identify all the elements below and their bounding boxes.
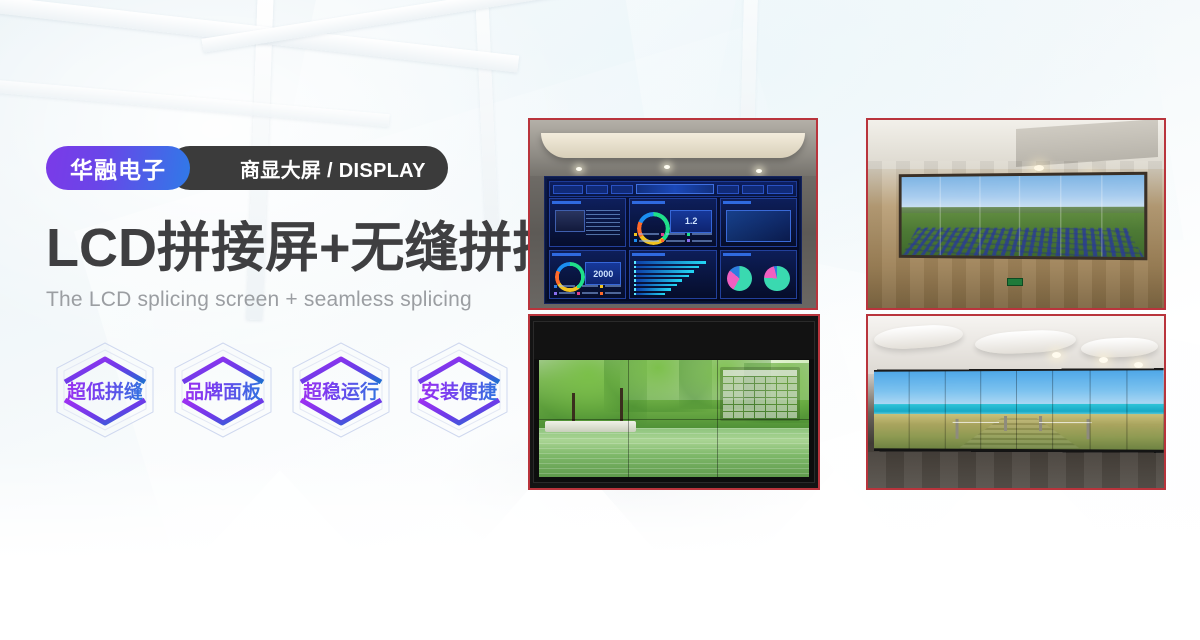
page-subtitle: The LCD splicing screen + seamless splic…	[46, 288, 546, 312]
video-wall-screen	[898, 171, 1146, 260]
feature-badge-label: 超稳运行	[303, 377, 379, 404]
dashboard-kpi-primary: 1.2	[670, 210, 711, 233]
video-wall-screen: 1.2	[544, 176, 801, 304]
product-banner: 商显大屏 / DISPLAY 华融电子 LCD拼接屏+无缝拼接 The LCD …	[0, 0, 1200, 640]
page-title: LCD拼接屏+无缝拼接	[46, 220, 546, 276]
dashboard-kpi-secondary: 2000	[585, 262, 621, 285]
product-photo-beach-boardwalk-video-wall[interactable]	[866, 314, 1166, 490]
product-photo-solar-farm-video-wall[interactable]	[866, 118, 1166, 310]
brand-pill-label: 华融电子	[70, 151, 166, 185]
video-wall-screen	[874, 369, 1164, 453]
category-pill: 商显大屏 / DISPLAY	[168, 146, 448, 190]
feature-badge: 超稳运行	[282, 338, 400, 442]
calendar-overlay	[720, 367, 801, 421]
feature-badge: 安装便捷	[400, 338, 518, 442]
feature-badge-list: 超低拼缝 品牌面板	[46, 338, 546, 442]
feature-badge: 超低拼缝	[46, 338, 164, 442]
feature-badge: 品牌面板	[164, 338, 282, 442]
banner-copy-column: 商显大屏 / DISPLAY 华融电子 LCD拼接屏+无缝拼接 The LCD …	[46, 146, 546, 442]
product-photo-grid: 1.2	[528, 118, 1168, 490]
product-photo-dashboard-video-wall[interactable]: 1.2	[528, 118, 818, 310]
category-pill-label: 商显大屏 / DISPLAY	[240, 154, 426, 183]
feature-badge-label: 安装便捷	[421, 377, 497, 404]
feature-badge-label: 超低拼缝	[67, 377, 143, 404]
brand-pill-row: 商显大屏 / DISPLAY 华融电子	[46, 146, 190, 190]
product-photo-willow-lake-video-wall[interactable]	[528, 314, 820, 490]
video-wall-screen	[539, 360, 808, 477]
feature-badge-label: 品牌面板	[185, 377, 261, 404]
brand-pill: 华融电子	[46, 146, 190, 190]
